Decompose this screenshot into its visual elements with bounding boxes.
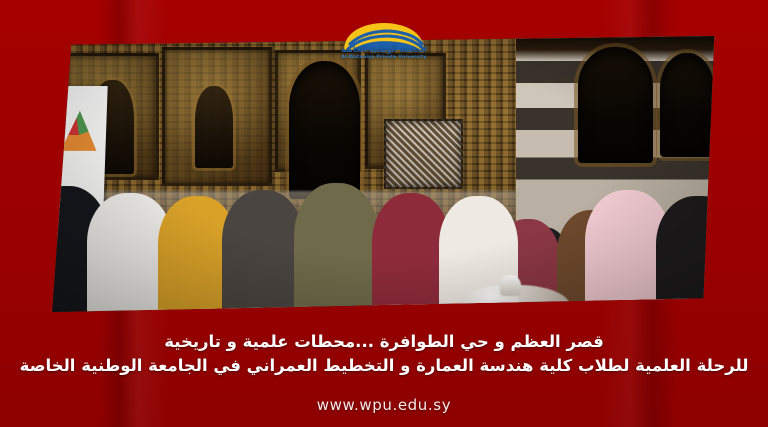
person	[222, 190, 304, 312]
caption-block: قصر العظم و حي الطوافرة ...محطات علمية و…	[0, 330, 768, 378]
architectural-model-spire	[500, 275, 521, 296]
rollup-banner-emblem	[61, 110, 98, 150]
caption-line-1: قصر العظم و حي الطوافرة ...محطات علمية و…	[0, 330, 768, 354]
arched-doorway	[578, 47, 653, 163]
person	[372, 193, 450, 312]
logo-english-name: Al-Wataniya Private University	[328, 56, 440, 61]
arched-doorway	[660, 53, 715, 158]
university-logo[interactable]: الجامعة الوطنية الخاصة Al-Wataniya Priva…	[328, 0, 440, 72]
person	[294, 183, 379, 312]
event-photo	[44, 36, 728, 312]
news-banner: الجامعة الوطنية الخاصة Al-Wataniya Priva…	[0, 0, 768, 427]
sun-and-waves-icon	[328, 0, 440, 50]
student-crowd	[44, 152, 728, 312]
photo-canvas	[44, 36, 728, 312]
person	[656, 196, 728, 312]
logo-arabic-name: الجامعة الوطنية الخاصة	[328, 46, 440, 54]
caption-line-2: للرحلة العلمية لطلاب كلية هندسة العمارة …	[0, 354, 768, 378]
website-url[interactable]: www.wpu.edu.sy	[0, 396, 768, 414]
